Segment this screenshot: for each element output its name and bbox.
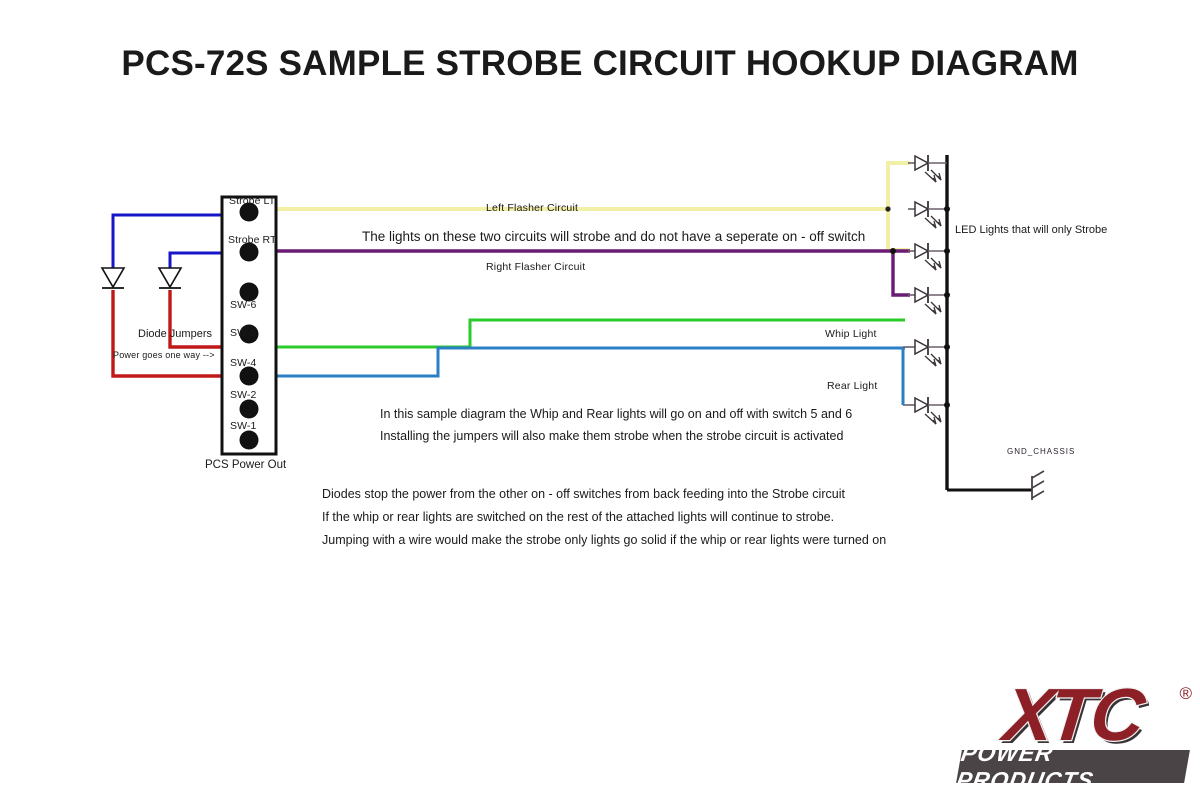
diode-jumpers-label: Diode Jumpers bbox=[138, 329, 212, 340]
led-6 bbox=[903, 397, 950, 424]
circuit-label-right-flasher: Right Flasher Circuit bbox=[486, 262, 585, 273]
note-diode-line-3: Jumping with a wire would make the strob… bbox=[322, 534, 886, 547]
logo-tagline: POWER PRODUCTS bbox=[956, 751, 1189, 782]
led-bank-label: LED Lights that will only Strobe bbox=[955, 225, 1107, 236]
wire-whip-light-green bbox=[258, 320, 905, 347]
led-5 bbox=[903, 339, 950, 366]
circuit-label-rear-light: Rear Light bbox=[827, 381, 877, 392]
note-strobe-circuits: The lights on these two circuits will st… bbox=[362, 230, 865, 244]
note-sample-line-1: In this sample diagram the Whip and Rear… bbox=[380, 408, 852, 421]
circuit-label-whip-light: Whip Light bbox=[825, 329, 877, 340]
led-1 bbox=[908, 155, 947, 182]
terminal-label-sw4: SW-4 bbox=[230, 358, 256, 369]
gnd-chassis-label: GND_CHASSIS bbox=[1007, 448, 1075, 456]
led-bus-rail bbox=[947, 155, 1032, 490]
led-2 bbox=[908, 201, 950, 228]
gnd-chassis-symbol bbox=[1032, 471, 1044, 500]
terminal-label-strobe-rt: Strobe RT bbox=[228, 235, 277, 246]
xtc-power-products-logo: XTC XTC POWER PRODUCTS ® bbox=[955, 672, 1190, 790]
terminal-label-strobe-lt: Strobe LT bbox=[229, 196, 275, 207]
connector-caption: PCS Power Out bbox=[205, 460, 286, 472]
terminal-sw1 bbox=[240, 431, 259, 450]
circuit-label-left-flasher: Left Flasher Circuit bbox=[486, 203, 578, 214]
note-diode-line-1: Diodes stop the power from the other on … bbox=[322, 488, 845, 501]
wire-rear-light-blue bbox=[258, 348, 905, 376]
power-one-way-note: Power goes one way --> bbox=[113, 351, 215, 360]
led-3 bbox=[908, 243, 950, 270]
note-diode-line-2: If the whip or rear lights are switched … bbox=[322, 511, 834, 524]
terminal-label-sw5: SW-5 bbox=[230, 328, 256, 339]
terminal-label-sw1: SW-1 bbox=[230, 421, 256, 432]
terminal-label-sw6: SW-6 bbox=[230, 300, 256, 311]
diagram-canvas: PCS-72S SAMPLE STROBE CIRCUIT HOOKUP DIA… bbox=[0, 0, 1200, 800]
diode-jumper-2 bbox=[159, 268, 181, 288]
terminal-sw2 bbox=[240, 400, 259, 419]
terminal-label-sw2: SW-2 bbox=[230, 390, 256, 401]
terminal-sw4 bbox=[240, 367, 259, 386]
registered-trademark-icon: ® bbox=[1179, 684, 1192, 704]
note-sample-line-2: Installing the jumpers will also make th… bbox=[380, 430, 843, 443]
diode-jumper-1 bbox=[102, 268, 124, 288]
led-4 bbox=[908, 287, 950, 314]
